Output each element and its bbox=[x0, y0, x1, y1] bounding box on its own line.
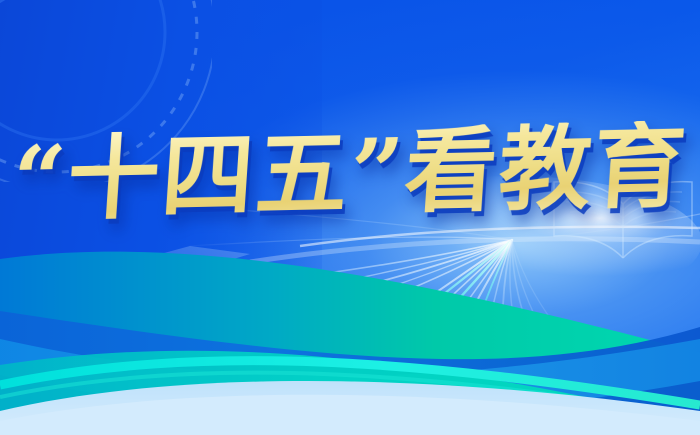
banner-image: “十四五”看教育 bbox=[0, 0, 700, 435]
wave-ribbons-icon bbox=[0, 235, 700, 435]
